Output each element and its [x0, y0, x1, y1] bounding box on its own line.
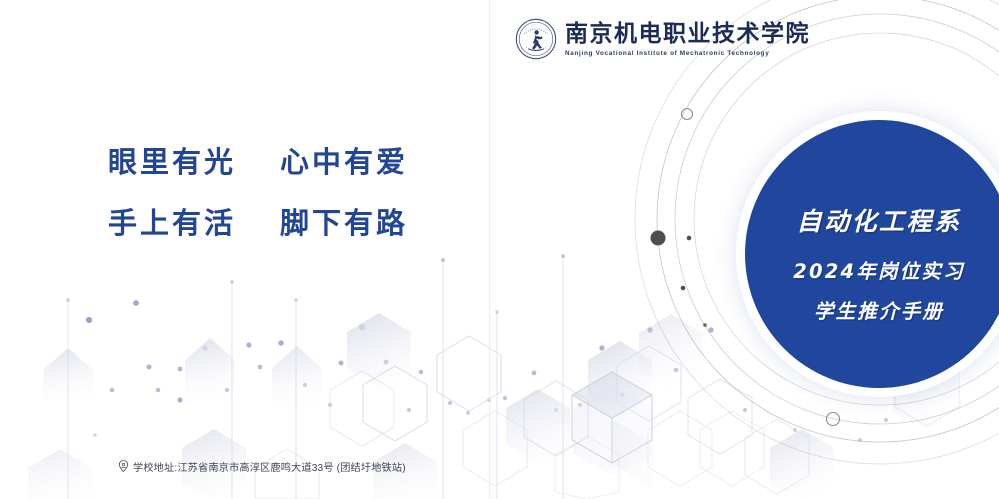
booklet-subtitle-line-2: 学生推介手册	[793, 295, 965, 324]
school-name-chinese: 南京机电职业技术学院	[565, 22, 810, 47]
orbit-ring-marker-bottom	[827, 413, 840, 426]
school-address-text: 学校地址:江苏省南京市高淳区鹿鸣大道33号 (团结圩地铁站)	[133, 459, 406, 474]
booklet-subtitle-line-1: 2024年岗位实习	[793, 255, 965, 284]
school-name-lockup: 南京机电职业技术学院 Nanjing Vocational Institute …	[515, 18, 810, 60]
school-seal-emblem-icon	[515, 18, 557, 60]
decor-thin-stem-dots	[66, 254, 565, 314]
department-title: 自动化工程系	[793, 202, 965, 238]
decor-3d-cube	[572, 372, 653, 488]
location-pin-icon	[118, 460, 129, 473]
slogan-1-right: 心中有爱	[280, 148, 408, 177]
slogan-1-left: 眼里有光	[108, 148, 236, 177]
poster-canvas: 南京机电职业技术学院 Nanjing Vocational Institute …	[0, 0, 999, 499]
decor-pentagons	[43, 338, 322, 408]
title-badge-circle: 自动化工程系 2024年岗位实习 学生推介手册	[745, 120, 999, 388]
slogan-block: 眼里有光 心中有爱 手上有活 脚下有路	[108, 148, 438, 238]
address-bar: 学校地址:江苏省南京市高淳区鹿鸣大道33号 (团结圩地铁站)	[118, 459, 406, 474]
slogan-2-left: 手上有活	[108, 209, 236, 238]
panel-divider	[489, 0, 490, 499]
title-badge-wrapper: 自动化工程系 2024年岗位实习 学生推介手册	[610, 55, 999, 385]
slogan-row-2: 手上有活 脚下有路	[108, 209, 438, 238]
slogan-row-1: 眼里有光 心中有爱	[108, 148, 438, 177]
slogan-2-right: 脚下有路	[280, 209, 408, 238]
title-badge-text-group: 自动化工程系 2024年岗位实习 学生推介手册	[793, 184, 965, 324]
